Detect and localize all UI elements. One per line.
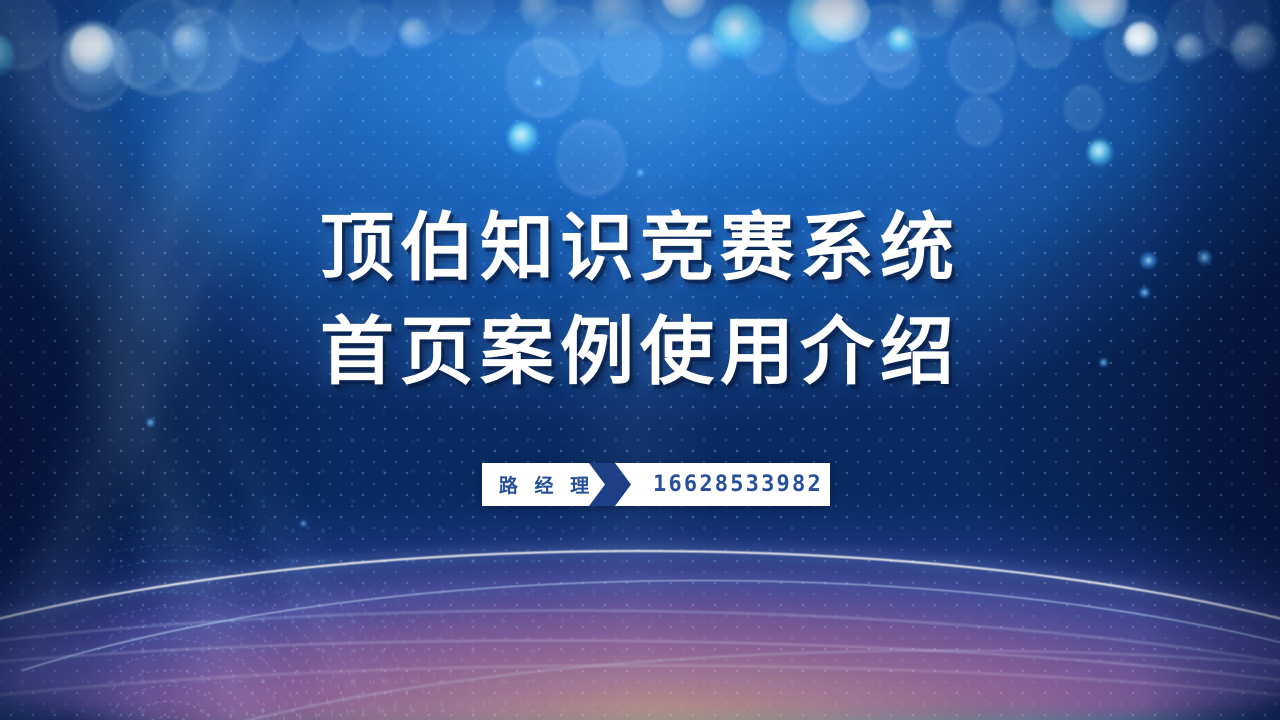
- bokeh-circle: [712, 4, 764, 60]
- bokeh-circle: [1052, 0, 1114, 40]
- bokeh-circle: [112, 0, 208, 96]
- bokeh-circle: [900, 0, 956, 38]
- bokeh-circle: [888, 26, 914, 54]
- bokeh-circle: [788, 0, 856, 54]
- bokeh-circle: [62, 22, 126, 96]
- bokeh-circle: [856, 4, 918, 72]
- bokeh-circle: [0, 34, 14, 78]
- bokeh-circle: [796, 24, 870, 104]
- bokeh-circle: [1176, 34, 1204, 64]
- contact-name: 路 经 理: [499, 471, 594, 498]
- bokeh-circle: [1078, 0, 1128, 28]
- bokeh-circle: [932, 0, 966, 20]
- bokeh-circle: [172, 24, 206, 60]
- bokeh-circle: [688, 34, 724, 72]
- bokeh-circle: [228, 0, 298, 62]
- bokeh-circle: [70, 26, 114, 74]
- glow-dot: [532, 76, 545, 89]
- bokeh-circle: [1204, 0, 1270, 52]
- bokeh-circle: [1232, 24, 1276, 72]
- bokeh-circle: [0, 0, 58, 70]
- bokeh-circle: [50, 22, 132, 110]
- slide-title: 顶伯知识竞赛系统 首页案例使用介绍: [0, 196, 1280, 404]
- bokeh-circle: [652, 0, 712, 34]
- contact-phone: 16628533982: [653, 472, 823, 497]
- bokeh-circle: [534, 6, 600, 76]
- contact-phone-panel: 16628533982: [651, 463, 830, 506]
- bokeh-circle: [440, 0, 494, 34]
- bokeh-circle: [162, 8, 240, 92]
- bokeh-circle: [1088, 140, 1112, 166]
- bokeh-circle: [1166, 0, 1224, 58]
- bokeh-circle: [1016, 8, 1072, 68]
- chevron-right-icon: [605, 463, 651, 506]
- bokeh-circle: [392, 0, 450, 44]
- bokeh-circle: [956, 96, 1002, 146]
- bokeh-circle: [812, 0, 870, 42]
- bokeh-circle: [348, 4, 396, 56]
- bokeh-circle: [520, 0, 558, 28]
- bokeh-circle: [592, 0, 644, 38]
- bokeh-circle: [1000, 0, 1040, 28]
- bokeh-circle: [870, 34, 920, 88]
- title-line-2: 首页案例使用介绍: [0, 300, 1280, 404]
- bokeh-circle: [296, 0, 362, 52]
- bokeh-circle: [948, 22, 1016, 94]
- bokeh-circle: [172, 0, 218, 24]
- bokeh-circle: [662, 0, 706, 18]
- contact-badge: 路 经 理 16628533982: [482, 463, 830, 506]
- bokeh-circle: [1124, 22, 1158, 56]
- presentation-slide: 顶伯知识竞赛系统 首页案例使用介绍 路 经 理 16628533982: [0, 0, 1280, 720]
- bokeh-circle: [556, 120, 626, 196]
- glow-dot: [146, 418, 155, 427]
- bokeh-circle: [400, 18, 430, 50]
- bokeh-circle: [600, 20, 662, 86]
- bokeh-circle: [1104, 14, 1168, 82]
- title-line-1: 顶伯知识竞赛系统: [0, 196, 1280, 300]
- bokeh-circle: [742, 26, 786, 74]
- bokeh-circle: [508, 122, 538, 154]
- bokeh-circle: [112, 30, 168, 88]
- bokeh-circle: [1064, 86, 1104, 130]
- dotted-fingerprint-pattern: [110, 450, 530, 720]
- glow-dot: [636, 168, 645, 177]
- contact-name-panel: 路 经 理: [482, 463, 605, 506]
